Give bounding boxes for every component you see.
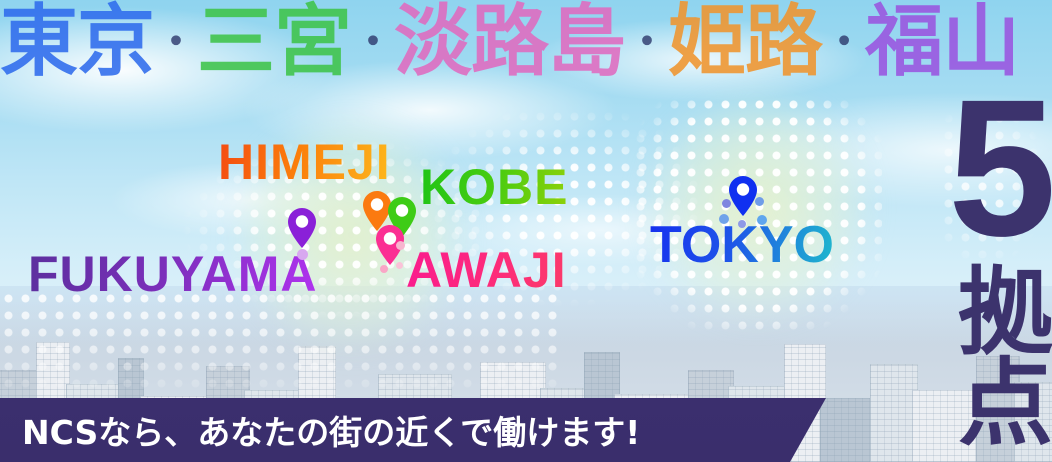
map-label-kobe: KOBE (420, 162, 568, 212)
map-pin-fukuyama-dot (297, 249, 308, 260)
location-count-unit: 拠 点 (958, 268, 1052, 450)
location-count-unit-char-1: 拠 (958, 268, 1052, 359)
tagline-banner: NCSなら、あなたの街の近くで働けます! (0, 398, 826, 462)
dot-pattern-bottom (0, 290, 560, 400)
map-label-fukuyama: FUKUYAMA (28, 249, 318, 299)
header-separator-1: ・ (154, 22, 197, 62)
map-pin-awaji-dot-c (396, 262, 403, 269)
header-city-awajishima: 淡路島 (394, 3, 625, 81)
header-city-list: 東京 ・ 三宮 ・ 淡路島 ・ 姫路 ・ 福山 (0, 0, 1052, 88)
map-label-himeji: HIMEJI (218, 137, 391, 187)
map-pin-tokyo-dot-b (755, 197, 764, 206)
location-count-unit-char-2: 点 (958, 359, 1052, 450)
map-label-awaji: AWAJI (406, 245, 567, 295)
map-pin-fukuyama[interactable] (287, 207, 317, 249)
map-pin-awaji-dot-b (380, 265, 388, 273)
header-city-tokyo: 東京 (0, 3, 154, 81)
header-separator-2: ・ (351, 22, 394, 62)
header-separator-3: ・ (625, 22, 668, 62)
map-pin-tokyo-dot-d (757, 215, 767, 225)
map-pin-tokyo[interactable] (728, 175, 758, 217)
tagline-text: NCSなら、あなたの街の近くで働けます! (0, 406, 640, 454)
map-pin-tokyo-dot-e (738, 220, 746, 228)
map-pin-tokyo-dot-a (722, 199, 731, 208)
location-count-number: 5 (948, 92, 1050, 244)
header-separator-4: ・ (822, 22, 865, 62)
header-city-himeji: 姫路 (668, 3, 822, 81)
header-city-sannomiya: 三宮 (197, 3, 351, 81)
banner-canvas: 東京 ・ 三宮 ・ 淡路島 ・ 姫路 ・ 福山 HIMEJI KOBE FUKU… (0, 0, 1052, 462)
map-pin-tokyo-dot-c (719, 214, 729, 224)
map-pin-awaji-dot-a (396, 241, 405, 250)
